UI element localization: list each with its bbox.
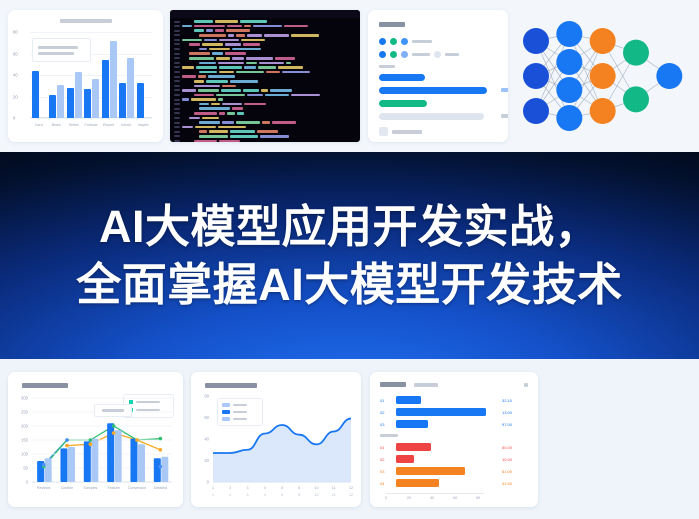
x-axis-tick: Feature: [107, 486, 119, 490]
bar: [396, 396, 421, 404]
y-axis-tick: 50: [23, 466, 28, 471]
x-axis-tick: Blues: [52, 123, 61, 127]
bar: [396, 479, 439, 487]
bar: [396, 420, 428, 428]
code-line: [174, 89, 357, 92]
x-axis-tick: Confide: [61, 486, 73, 490]
bottom-image-strip: 050100150200250300ReviewsConfideSamplesF…: [0, 359, 699, 519]
data-point: [112, 431, 116, 435]
network-node: [523, 63, 549, 89]
x-axis-sublabel: 1: [212, 493, 214, 497]
x-axis-sublabel: 5: [281, 493, 283, 497]
x-axis: [386, 493, 484, 494]
code-editor-card: [170, 10, 360, 142]
data-point: [89, 442, 93, 446]
y-axis-tick: 60: [13, 51, 18, 56]
bar: [60, 448, 67, 482]
bar: [75, 72, 82, 118]
x-axis-tick: 6: [298, 486, 300, 490]
y-axis-tick: 0: [207, 480, 210, 485]
section-label: [379, 65, 395, 68]
progress-row: [379, 74, 497, 81]
bar-label: 02: [380, 457, 384, 462]
bar-label: 02: [380, 410, 384, 415]
legend-dot-lightblue: [401, 38, 408, 45]
data-point: [159, 465, 163, 469]
code-line: [174, 75, 357, 78]
area-chart-card: 020406080112233445566101011111212: [191, 372, 361, 507]
x-axis-tick: Report: [103, 123, 114, 127]
network-node: [556, 77, 582, 103]
code-line: [174, 116, 357, 119]
y-axis-tick: 150: [21, 438, 29, 443]
code-line: [174, 103, 357, 106]
bar: [137, 83, 144, 118]
y-axis-tick: 100: [21, 452, 29, 457]
network-node: [556, 49, 582, 75]
code-line: [174, 57, 357, 60]
annotation-tooltip: [94, 404, 132, 417]
bar: [84, 441, 91, 482]
code-line: [174, 80, 357, 83]
bar: [57, 85, 64, 118]
code-line: [174, 98, 357, 101]
bar-chart-card: 020406080CardBluesSelectFortnowReportInh…: [8, 10, 163, 142]
chart-legend: [32, 38, 91, 62]
bar-group: [119, 58, 134, 118]
code-line: [174, 52, 357, 55]
x-axis-tick: Inhost: [121, 123, 131, 127]
progress-bar: [379, 113, 484, 120]
x-axis-sublabel: 3: [247, 493, 249, 497]
combo-chart-plot: 050100150200250300ReviewsConfideSamplesF…: [32, 398, 172, 482]
area-fill: [213, 419, 351, 482]
y-axis-tick: 0: [26, 480, 29, 485]
menu-icon[interactable]: [524, 383, 528, 387]
code-line: [174, 130, 357, 133]
legend-row-1: [379, 38, 432, 45]
x-axis-sublabel: 4: [264, 493, 266, 497]
bar: [138, 444, 145, 482]
y-axis-tick: 40: [204, 437, 209, 442]
bar: [68, 447, 75, 482]
x-axis-tick: Reviews: [37, 486, 51, 490]
bar-group: [67, 72, 82, 118]
x-axis-tick: 20: [407, 496, 411, 500]
hero-banner: AI大模型应用开发实战， 全面掌握AI大模型开发技术: [0, 152, 699, 359]
y-axis-tick: 80: [13, 30, 18, 35]
bar: [396, 455, 414, 463]
network-node: [623, 40, 649, 66]
legend-dot-gray: [434, 51, 441, 58]
x-axis-tick: 40: [430, 496, 434, 500]
network-node: [623, 86, 649, 112]
x-axis-tick: Card: [35, 123, 43, 127]
y-axis-tick: 60: [204, 415, 209, 420]
data-point: [42, 463, 46, 467]
y-axis-tick: 40: [13, 73, 18, 78]
bar-value: 10.00: [502, 457, 512, 462]
bar: [115, 430, 122, 482]
code-line: [174, 71, 357, 74]
code-line: [174, 121, 357, 124]
bar-group: [102, 41, 117, 118]
x-axis-tick: 10: [315, 486, 319, 490]
bar-value: 81.00: [502, 469, 512, 474]
x-axis-tick: Samples: [83, 486, 97, 490]
bar: [110, 41, 117, 118]
network-node: [523, 28, 549, 54]
combo-chart-card: 050100150200250300ReviewsConfideSamplesF…: [8, 372, 183, 507]
banner-line-2: 全面掌握AI大模型开发技术: [76, 256, 623, 314]
bar-value: 50.00: [502, 445, 512, 450]
banner-line-1: AI大模型应用开发实战，: [99, 198, 600, 256]
top-image-strip: 020406080CardBluesSelectFortnowReportInh…: [0, 0, 699, 152]
bar-value: 41.50: [502, 481, 512, 486]
dashboard-card: [368, 10, 508, 142]
ai-icon: [379, 127, 388, 136]
bar: [396, 408, 486, 416]
x-axis-tick: 60: [453, 496, 457, 500]
bar: [130, 439, 137, 482]
bar: [45, 458, 52, 482]
x-axis-tick: Fortnow: [85, 123, 98, 127]
x-axis-sublabel: 12: [349, 493, 353, 497]
x-axis-tick: 11: [332, 486, 336, 490]
bar-group: [84, 79, 99, 118]
network-node: [590, 28, 616, 54]
data-point: [65, 438, 69, 442]
code-line: [174, 107, 357, 110]
x-axis-tick: 4: [264, 486, 266, 490]
editor-title-bar: [170, 10, 360, 18]
bar: [396, 467, 465, 475]
y-axis-tick: 300: [21, 396, 29, 401]
chart-title: [205, 383, 257, 388]
network-node: [656, 63, 682, 89]
bar: [92, 79, 99, 118]
bar-label: 03: [380, 422, 384, 427]
bar-group: [137, 83, 144, 118]
y-axis-tick: 20: [13, 94, 18, 99]
code-line: [174, 84, 357, 87]
progress-bar: [379, 100, 427, 107]
network-node: [590, 98, 616, 124]
progress-bar: [379, 74, 425, 81]
data-point: [159, 448, 163, 452]
code-line: [174, 48, 357, 51]
horizontal-bar-plot: 0132.100213.000397.000150.000210.000381.…: [370, 392, 538, 504]
bar: [84, 89, 91, 118]
code-line: [174, 38, 357, 41]
y-axis-tick: 80: [204, 394, 209, 399]
network-node: [590, 63, 616, 89]
progress-bar: [379, 87, 487, 94]
bar-label: 01: [380, 445, 384, 450]
legend-dot-blue: [379, 38, 386, 45]
chart-title: [380, 382, 406, 387]
legend-dot-teal: [390, 38, 397, 45]
code-line: [174, 135, 357, 138]
x-axis-sublabel: 2: [229, 493, 231, 497]
bar: [91, 439, 98, 482]
code-line: [174, 43, 357, 46]
x-axis-tick: Conversion: [128, 486, 146, 490]
x-axis-sublabel: 11: [332, 493, 336, 497]
code-line: [174, 20, 357, 23]
x-axis-tick: 0: [385, 496, 387, 500]
neural-network-top: [516, 6, 696, 146]
network-node: [556, 21, 582, 47]
bar: [102, 60, 109, 118]
bar: [49, 95, 56, 118]
x-axis-tick: 1: [212, 486, 214, 490]
legend-row-2: [379, 51, 459, 58]
horizontal-bar-card: 0132.100213.000397.000150.000210.000381.…: [370, 372, 538, 507]
chart-title: [60, 19, 112, 23]
x-axis-tick: 3: [247, 486, 249, 490]
code-line: [174, 112, 357, 115]
code-line: [174, 139, 357, 142]
bar-label: 04: [380, 481, 384, 486]
code-line: [174, 126, 357, 129]
chart-subtitle: [414, 383, 438, 387]
bar: [119, 83, 126, 118]
bar: [154, 458, 161, 482]
x-axis-tick: Inspire: [138, 123, 149, 127]
bar-label: 03: [380, 469, 384, 474]
legend-dot-teal: [390, 51, 397, 58]
x-axis-tick: 12: [349, 486, 353, 490]
bar: [127, 58, 134, 118]
card-footer: [379, 127, 422, 136]
bar-value: 32.10: [502, 398, 512, 403]
code-line: [174, 61, 357, 64]
code-line: [174, 29, 357, 32]
x-axis-tick: Detailed: [154, 486, 167, 490]
x-axis-tick: 80: [476, 496, 480, 500]
chart-legend: [217, 398, 263, 426]
code-line: [174, 25, 357, 28]
y-axis-tick: 250: [21, 410, 29, 415]
poster-canvas: 020406080CardBluesSelectFortnowReportInh…: [0, 0, 699, 519]
code-line: [174, 66, 357, 69]
network-node: [523, 98, 549, 124]
bar: [67, 88, 74, 118]
bar-value: 97.00: [502, 422, 512, 427]
network-node: [556, 105, 582, 131]
progress-row: [379, 100, 497, 107]
bar: [161, 457, 168, 482]
x-axis-tick: 2: [229, 486, 231, 490]
dashboard-title: [379, 22, 405, 27]
x-axis-sublabel: 10: [315, 493, 319, 497]
x-axis-tick: Select: [69, 123, 79, 127]
bar-label: 01: [380, 398, 384, 403]
data-point: [65, 444, 69, 448]
group-label: [380, 434, 398, 437]
data-point: [112, 424, 116, 428]
progress-row: [379, 87, 497, 94]
data-point: [135, 438, 139, 442]
chart-title: [22, 383, 68, 388]
y-axis-tick: 200: [21, 424, 29, 429]
y-axis-tick: 20: [204, 458, 209, 463]
code-line: [174, 34, 357, 37]
bar: [32, 71, 39, 118]
y-axis-tick: 0: [13, 116, 15, 121]
bar: [396, 443, 431, 451]
x-axis-sublabel: 6: [298, 493, 300, 497]
progress-row: [379, 113, 497, 120]
legend-dot-blue: [379, 51, 386, 58]
bar-group: [49, 85, 64, 118]
legend-dot-pale: [401, 51, 408, 58]
code-line: [174, 94, 357, 97]
bar-group: [32, 71, 39, 118]
code-lines: [174, 20, 357, 140]
data-point: [159, 437, 163, 441]
data-point: [89, 438, 93, 442]
x-axis-tick: 5: [281, 486, 283, 490]
bar-value: 13.00: [502, 410, 512, 415]
